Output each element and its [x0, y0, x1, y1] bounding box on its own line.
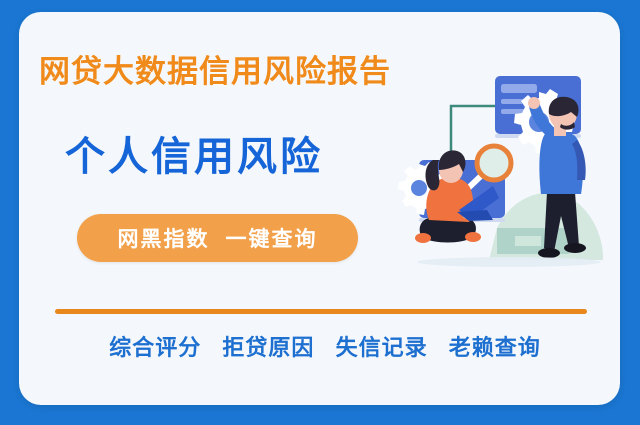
orange-divider [55, 309, 587, 314]
feature-link-reject[interactable]: 拒贷原因 [222, 335, 314, 360]
credit-report-illustration [389, 60, 620, 300]
ground-shadow [417, 257, 601, 267]
cta-label-left: 网黑指数 [118, 223, 210, 253]
banner-card: 网贷大数据信用风险报告 个人信用风险 网黑指数 一键查询 综合评分 拒贷原因 失… [19, 12, 620, 405]
query-cta-button[interactable]: 网黑指数 一键查询 [77, 214, 358, 262]
feature-link-record[interactable]: 失信记录 [336, 335, 428, 360]
feature-link-score[interactable]: 综合评分 [109, 335, 201, 360]
cta-label-right: 一键查询 [226, 223, 318, 253]
feature-link-list: 综合评分 拒贷原因 失信记录 老赖查询 [55, 330, 595, 362]
promo-banner: 网贷大数据信用风险报告 个人信用风险 网黑指数 一键查询 综合评分 拒贷原因 失… [0, 0, 640, 425]
feature-link-laolai[interactable]: 老赖查询 [449, 335, 541, 360]
